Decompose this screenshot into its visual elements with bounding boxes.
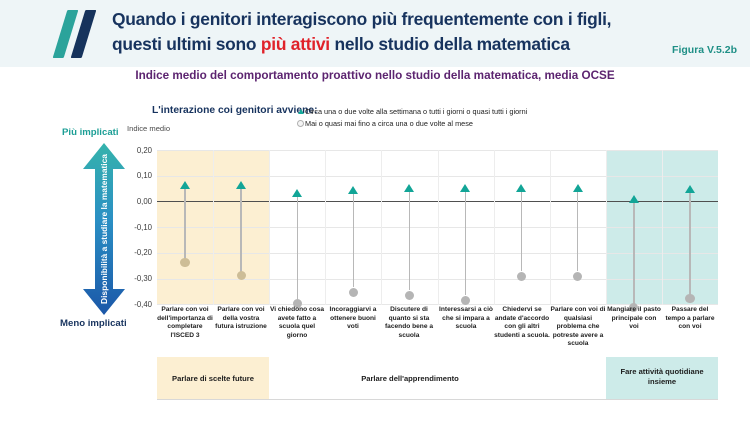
marker-circle <box>573 272 582 281</box>
column-separator <box>213 150 214 305</box>
column-separator <box>550 150 551 305</box>
marker-circle <box>405 291 414 300</box>
marker-triangle <box>685 185 695 193</box>
title-line-1: Quando i genitori interagiscono più freq… <box>112 7 622 32</box>
plot-area <box>157 150 718 305</box>
y-tick-4: -0,20 <box>118 248 152 257</box>
circle-icon <box>296 118 305 130</box>
x-label-0: Parlare con voi dell'importanza di compl… <box>157 306 213 340</box>
marker-triangle <box>573 184 583 192</box>
legend: Circa una o due volte alla settimana o t… <box>296 106 527 131</box>
y-tick-3: -0,10 <box>118 223 152 232</box>
legend-title: L'interazione coi genitori avviene: <box>152 105 318 116</box>
group-label-daily: Fare attività quotidiane insieme <box>606 367 718 387</box>
chart-subtitle: Indice medio del comportamento proattivo… <box>0 69 750 82</box>
marker-triangle <box>629 195 639 203</box>
y-tick-0: 0,20 <box>118 146 152 155</box>
column-separator <box>381 150 382 305</box>
y-tick-1: 0,10 <box>118 171 152 180</box>
x-label-2: Vi chiedono cosa avete fatto a scuola qu… <box>269 306 325 340</box>
axis-bottom-label: Meno implicati <box>60 318 127 329</box>
column-separator <box>438 150 439 305</box>
title-part-b: nello studio della matematica <box>330 34 570 54</box>
x-label-3: Incoraggiarvi a ottenere buoni voti <box>325 306 381 332</box>
group-label-future: Parlare di scelte future <box>157 374 269 384</box>
axis-top-label: Più implicati <box>62 127 119 138</box>
triangle-icon <box>296 106 305 117</box>
legend-item-label: Circa una o due volte alla settimana o t… <box>305 106 527 117</box>
x-label-5: Interessarsi a ciò che si impara a scuol… <box>438 306 494 332</box>
x-label-4: Discutere di quanto si sta facendo bene … <box>381 306 437 340</box>
chevron-logo <box>54 10 106 58</box>
column-separator <box>325 150 326 305</box>
x-label-6: Chiedervi se andate d'accordo con gli al… <box>494 306 550 340</box>
title-line-2: questi ultimi sono più attivi nello stud… <box>112 32 622 57</box>
marker-circle <box>349 288 358 297</box>
column-separator <box>606 150 607 305</box>
column-separator <box>494 150 495 305</box>
column-separator <box>269 150 270 305</box>
header-banner: Quando i genitori interagiscono più freq… <box>0 0 750 67</box>
page-title: Quando i genitori interagiscono più freq… <box>112 7 622 57</box>
title-emphasis: più attivi <box>261 34 330 54</box>
title-part-a: questi ultimi sono <box>112 34 261 54</box>
legend-item-frequent: Circa una o due volte alla settimana o t… <box>296 106 527 117</box>
marker-triangle <box>516 184 526 192</box>
column-separator <box>662 150 663 305</box>
marker-triangle <box>460 184 470 192</box>
marker-circle <box>237 271 246 280</box>
marker-triangle <box>292 189 302 197</box>
x-label-1: Parlare con voi della vostra futura istr… <box>213 306 269 332</box>
y-tick-2: 0,00 <box>118 197 152 206</box>
y-tick-5: -0,30 <box>118 274 152 283</box>
group-label-learning: Parlare dell'apprendimento <box>300 374 520 384</box>
x-label-9: Passare del tempo a parlare con voi <box>662 306 718 332</box>
x-label-7: Parlare con voi di qualsiasi problema ch… <box>550 306 606 349</box>
figure-label: Figura V.5.2b <box>672 44 737 56</box>
footer-baseline <box>157 399 718 400</box>
legend-item-label: Mai o quasi mai fino a circa una o due v… <box>305 118 473 129</box>
marker-triangle <box>236 181 246 189</box>
marker-circle <box>685 294 694 303</box>
marker-circle <box>180 258 189 267</box>
marker-triangle <box>404 184 414 192</box>
x-label-8: Mangiare il pasto principale con voi <box>606 306 662 332</box>
y-axis-caption: Indice medio <box>127 124 170 133</box>
marker-circle <box>517 272 526 281</box>
y-tick-6: -0,40 <box>118 300 152 309</box>
legend-item-rare: Mai o quasi mai fino a circa una o due v… <box>296 118 527 130</box>
marker-triangle <box>180 181 190 189</box>
marker-triangle <box>348 186 358 194</box>
